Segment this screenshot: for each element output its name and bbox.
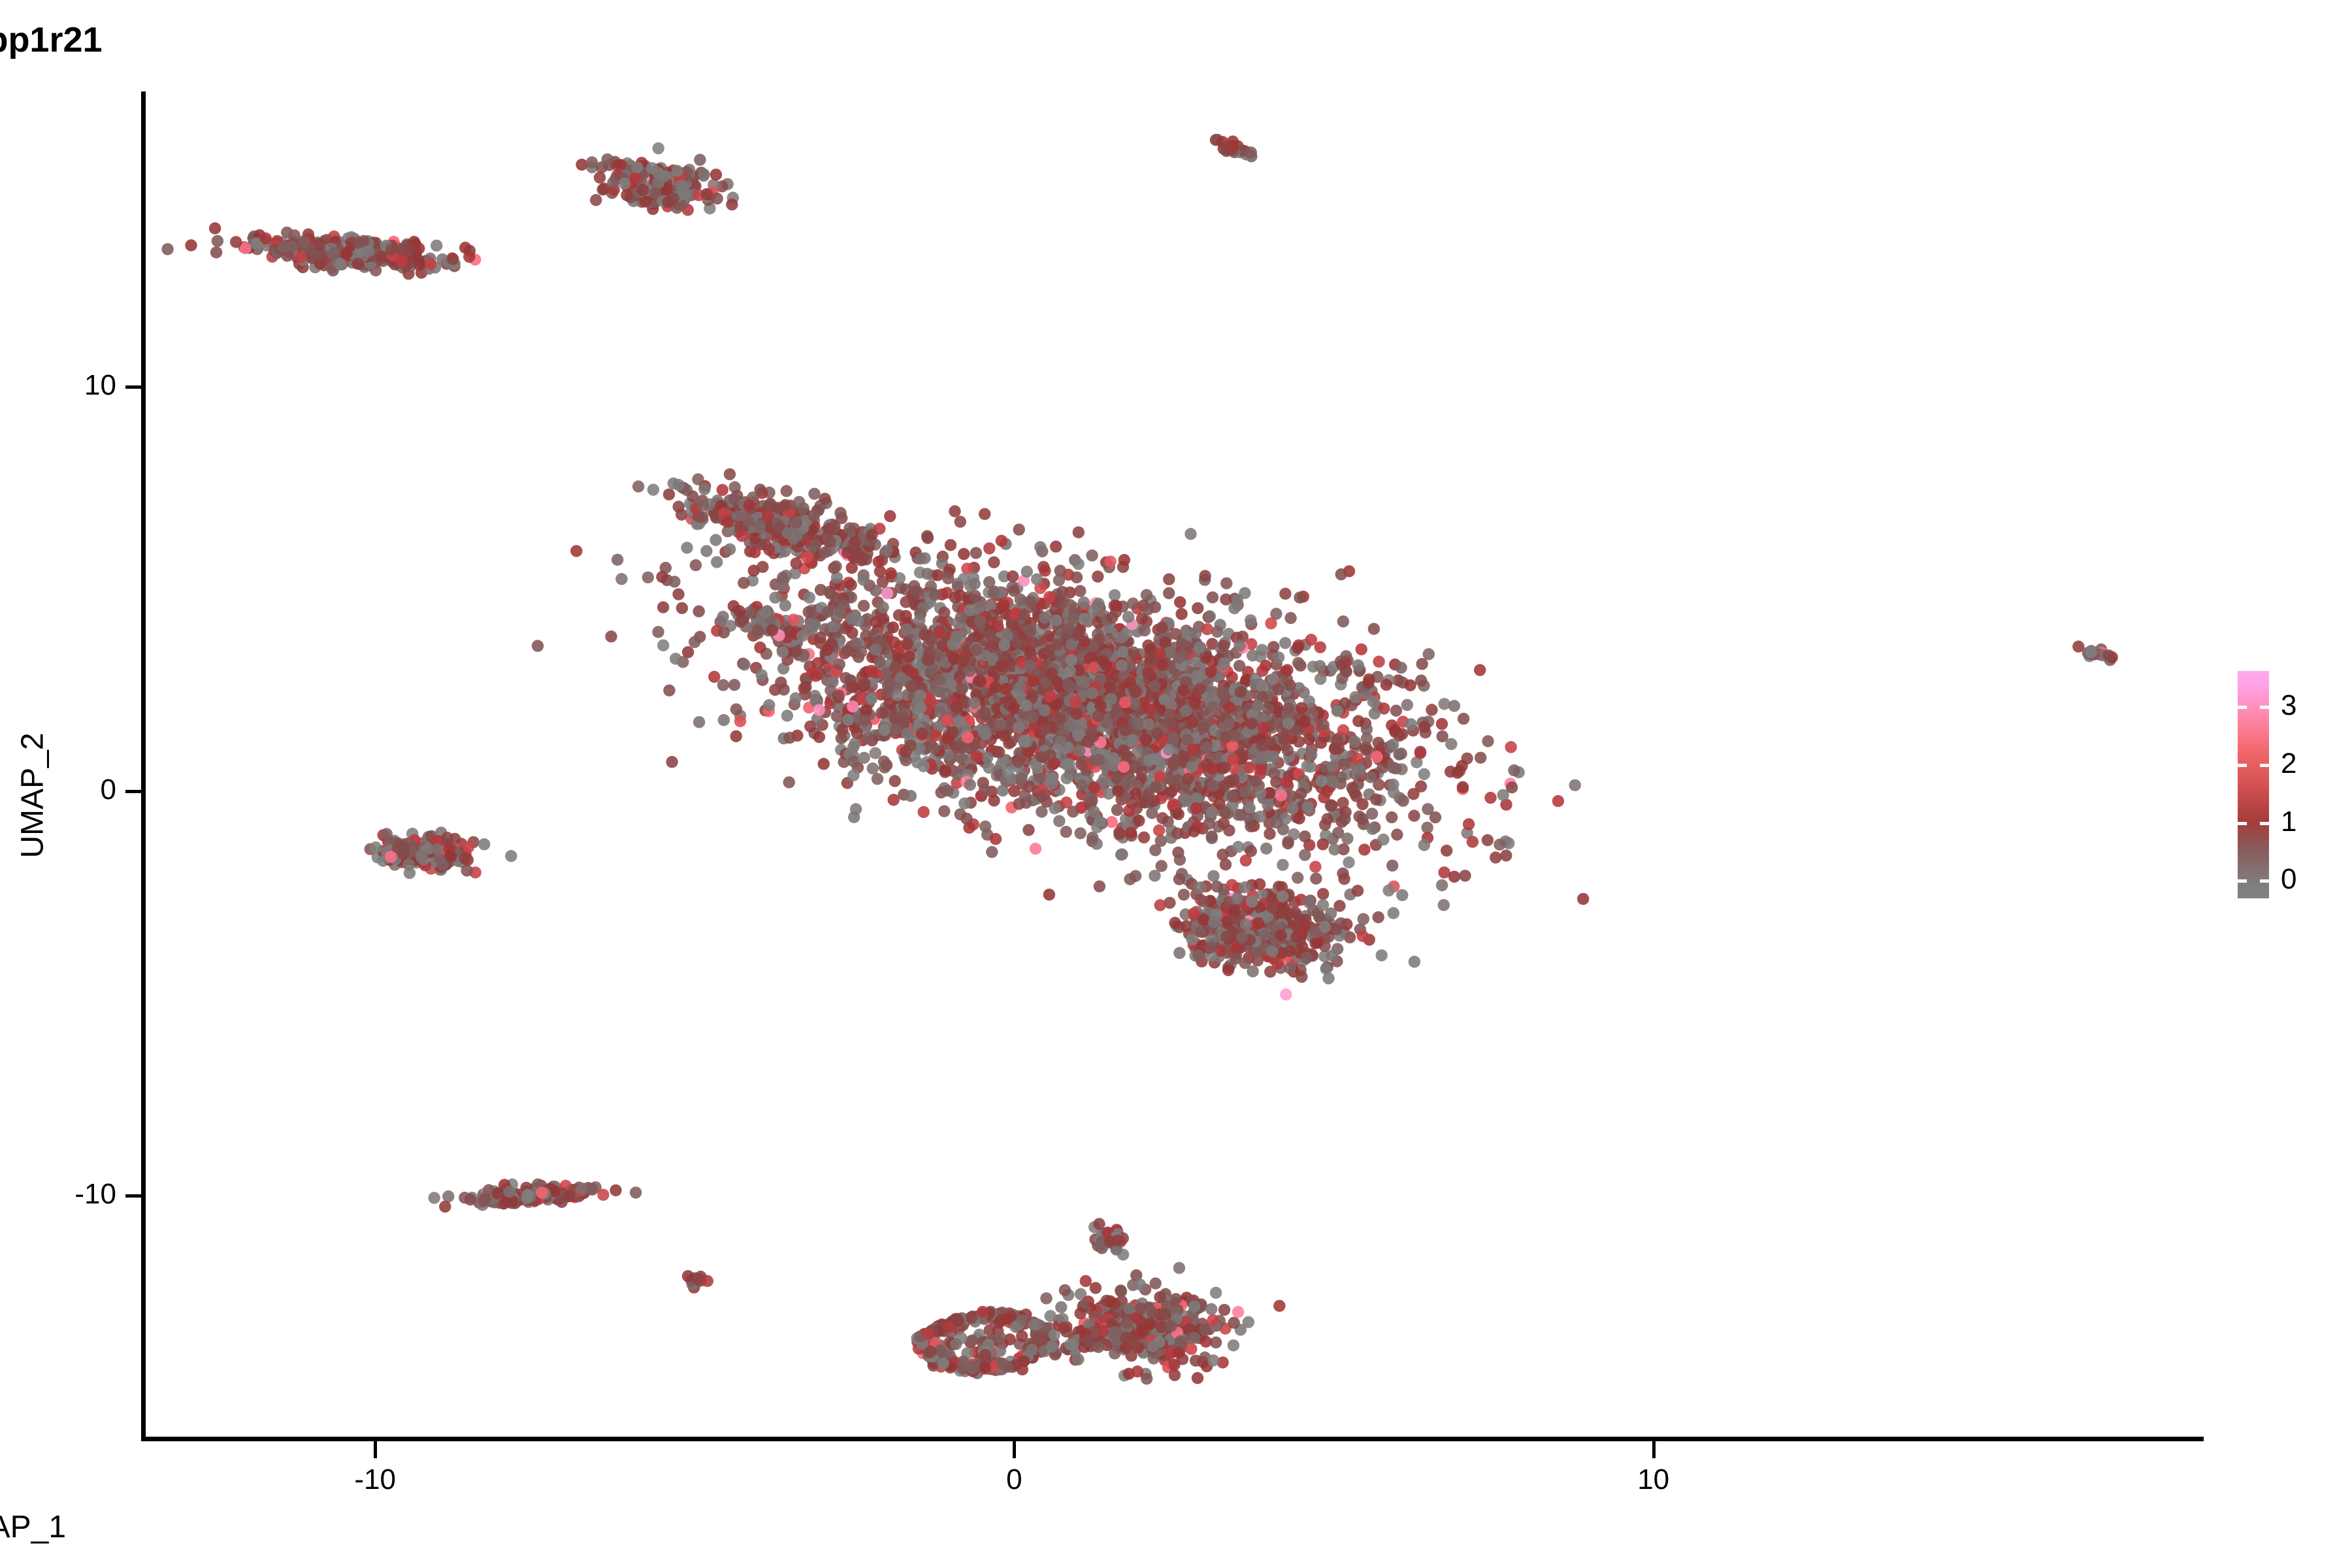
x-tick-label: 0 — [949, 1463, 1079, 1496]
y-axis-line — [141, 91, 146, 1441]
legend-tick-mark — [2260, 706, 2269, 709]
x-axis-title-text: UMAP_1 — [0, 1509, 66, 1545]
x-tick-label: -10 — [310, 1463, 440, 1496]
legend-tick-label: 3 — [2281, 691, 2296, 720]
legend-tick-mark — [2238, 822, 2247, 825]
legend-tick-mark — [2260, 879, 2269, 883]
y-tick-label: -10 — [25, 1178, 116, 1211]
x-tick-mark — [1652, 1441, 1656, 1458]
legend-tick-label: 1 — [2281, 808, 2296, 836]
x-axis-title: UMAP_1 — [0, 1509, 2352, 1545]
legend-tick-label: 0 — [2281, 865, 2296, 894]
plot-title: Ppp1r21 — [0, 20, 2352, 60]
umap-feature-plot: Ppp1r21 100-10-10010 UMAP_1 UMAP_2 3210 — [0, 0, 2352, 1568]
x-tick-label: 10 — [1588, 1463, 1719, 1496]
legend-tick-mark — [2260, 764, 2269, 767]
plot-title-text: Ppp1r21 — [0, 20, 103, 60]
legend-tick-mark — [2260, 822, 2269, 825]
y-tick-mark — [125, 1194, 142, 1198]
legend-tick-mark — [2238, 764, 2247, 767]
legend-tick-mark — [2238, 706, 2247, 709]
y-axis-title-text: UMAP_2 — [16, 732, 50, 858]
legend-tick-mark — [2238, 879, 2247, 883]
color-legend[interactable]: 3210 — [2238, 668, 2342, 903]
legend-tick-label: 2 — [2281, 749, 2296, 778]
y-tick-mark — [125, 790, 142, 793]
plot-panel — [145, 91, 2203, 1439]
y-axis-title: UMAP_2 — [15, 659, 51, 933]
scatter-canvas — [145, 91, 2203, 1439]
x-tick-mark — [1013, 1441, 1016, 1458]
y-tick-mark — [125, 385, 142, 389]
x-axis-line — [141, 1437, 2204, 1441]
y-tick-label: 10 — [25, 369, 116, 402]
x-tick-mark — [374, 1441, 377, 1458]
